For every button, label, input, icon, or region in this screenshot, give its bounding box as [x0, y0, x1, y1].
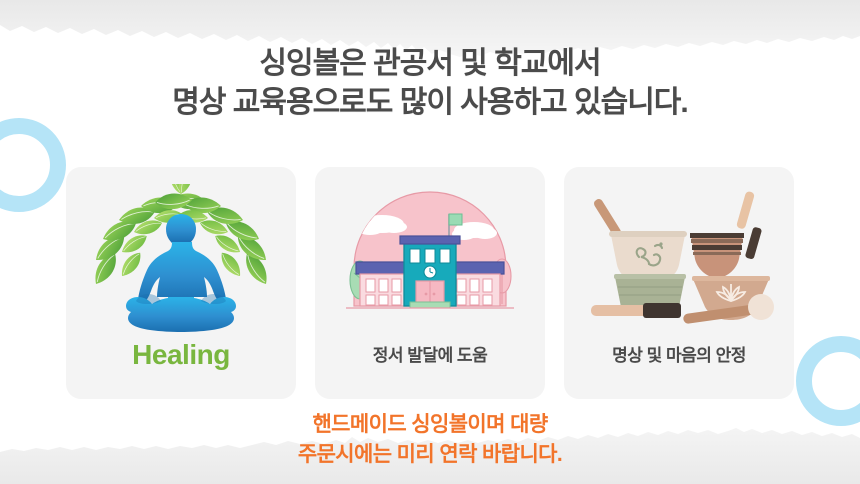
- page-title: 싱잉볼은 관공서 및 학교에서 명상 교육용으로도 많이 사용하고 있습니다.: [0, 44, 860, 122]
- singing-bowls-icon: [579, 179, 779, 339]
- feature-card-row: Healing: [66, 167, 794, 399]
- feature-card-school[interactable]: 정서 발달에 도움: [315, 167, 545, 399]
- feature-card-label: Healing: [66, 339, 296, 371]
- school-building-icon: [330, 179, 530, 339]
- meditating-person-with-leaves-icon: [81, 179, 281, 339]
- slide-canvas: 싱잉볼은 관공서 및 학교에서 명상 교육용으로도 많이 사용하고 있습니다.: [0, 0, 860, 484]
- bottom-note: 핸드메이드 싱잉볼이며 대량 주문시에는 미리 연락 바랍니다.: [0, 410, 860, 470]
- decor-ring-left-icon: [0, 118, 66, 212]
- feature-card-label: 명상 및 마음의 안정: [564, 341, 794, 366]
- feature-card-label: 정서 발달에 도움: [315, 341, 545, 366]
- feature-card-singing-bowls[interactable]: 명상 및 마음의 안정: [564, 167, 794, 399]
- feature-card-healing[interactable]: Healing: [66, 167, 296, 399]
